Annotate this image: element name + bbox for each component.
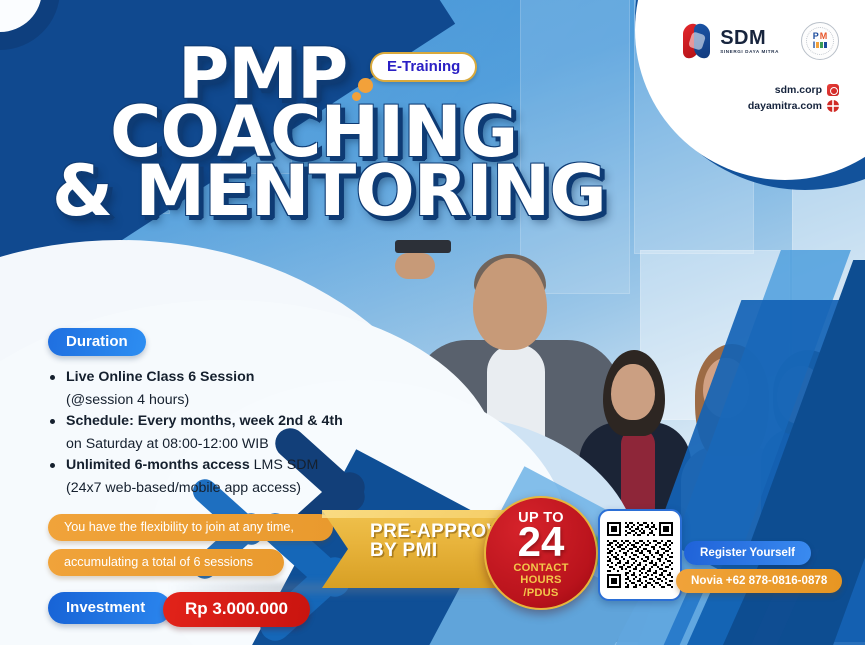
investment-row: Investment Rp 3.000.000	[48, 592, 428, 628]
price-badge: Rp 3.000.000	[163, 592, 310, 627]
instagram-icon	[827, 84, 839, 96]
etraining-badge: E-Training	[370, 52, 477, 82]
contact-hours-badge: UP TO 24 CONTACT HOURS /PDUS	[484, 496, 598, 610]
website-text: dayamitra.com	[748, 100, 822, 112]
bullet-3-main: Unlimited 6-months access	[66, 457, 250, 473]
list-item: Unlimited 6-months access LMS SDM	[48, 456, 428, 475]
sdm-logo: SDM SINERGI DAYA MITRA	[681, 24, 779, 58]
globe-icon	[827, 100, 839, 112]
badge-tail-dot-small	[352, 92, 361, 101]
brand-logos: SDM SINERGI DAYA MITRA PM I	[681, 22, 839, 60]
instagram-handle-text: sdm.corp	[775, 84, 822, 96]
website-handle-row[interactable]: dayamitra.com	[748, 100, 839, 112]
qr-code-icon	[607, 522, 673, 588]
badge-sub-line-2: HOURS	[520, 575, 561, 586]
bullet-2-main: Schedule: Every months, week 2nd & 4th	[66, 413, 343, 429]
bullet-1-secondline: (@session 4 hours)	[48, 391, 428, 409]
page-title: PMP COACHING & MENTORING	[52, 42, 606, 223]
qr-code-card[interactable]	[598, 509, 682, 601]
flex-note-line-2: accumulating a total of 6 sessions	[48, 549, 284, 576]
presenter-belt	[395, 240, 451, 253]
presenter-head	[473, 258, 547, 350]
bullet-1-main: Live Online Class 6 Session	[66, 369, 254, 385]
presenter-hand	[395, 253, 435, 279]
duration-badge: Duration	[48, 328, 146, 356]
contact-phone-badge[interactable]: Novia +62 878-0816-0878	[676, 569, 842, 593]
investment-label: Investment	[48, 592, 171, 624]
list-item: Live Online Class 6 Session	[48, 368, 428, 387]
attendee-1-face	[611, 364, 655, 420]
sdm-mark-icon	[681, 24, 713, 58]
pmi-seal-icon: PM I	[801, 22, 839, 60]
instagram-handle-row[interactable]: sdm.corp	[748, 84, 839, 96]
register-button[interactable]: Register Yourself	[684, 541, 811, 565]
flex-note-line-1: You have the flexibility to join at any …	[48, 514, 333, 541]
list-item: Schedule: Every months, week 2nd & 4th	[48, 412, 428, 431]
badge-sub-line-3: /PDUS	[523, 588, 558, 599]
promo-poster: SDM SINERGI DAYA MITRA PM I sdm.corp	[0, 0, 865, 645]
details-bullet-list: Live Online Class 6 Session (@session 4 …	[48, 368, 428, 498]
badge-number: 24	[518, 523, 565, 562]
sdm-logo-subtitle: SINERGI DAYA MITRA	[720, 50, 779, 55]
sdm-logo-name: SDM	[720, 28, 779, 48]
social-handles: sdm.corp dayamitra.com	[748, 84, 839, 116]
bullet-3-sub: LMS SDM	[250, 457, 319, 473]
badge-sub-line-1: CONTACT	[513, 563, 568, 574]
title-line-3: & MENTORING	[52, 159, 606, 223]
bullet-2-secondline: on Saturday at 08:00-12:00 WIB	[48, 435, 428, 453]
bullet-3-secondline: (24x7 web-based/mobile app access)	[48, 479, 428, 497]
badge-tail-dot	[358, 78, 373, 93]
